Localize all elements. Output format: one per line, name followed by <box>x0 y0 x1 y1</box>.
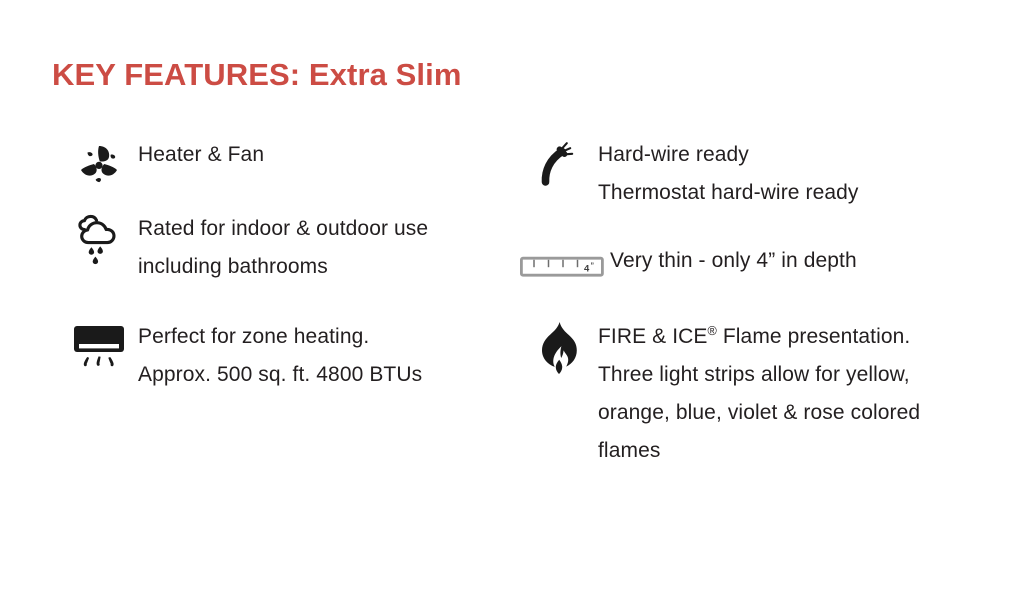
feature-heater-fan-text: Heater & Fan <box>138 136 530 174</box>
feature-line: Three light strips allow for yellow, <box>598 356 1020 394</box>
ruler-icon: 4 ” <box>520 244 610 280</box>
feature-line-pre: FIRE & ICE <box>598 325 708 348</box>
feature-fire-and-ice-text: FIRE & ICE® Flame presentation. Three li… <box>598 318 1020 470</box>
page-title-light: Extra Slim <box>300 57 461 92</box>
feature-line: Perfect for zone heating. <box>138 318 530 356</box>
feature-very-thin-text: Very thin - only 4” in depth <box>610 244 1020 278</box>
feature-zone-heating-text: Perfect for zone heating. Approx. 500 sq… <box>138 318 530 394</box>
cloud-rain-icon <box>60 210 138 268</box>
feature-indoor-outdoor-text: Rated for indoor & outdoor use including… <box>138 210 530 286</box>
feature-line: Heater & Fan <box>138 136 530 174</box>
feature-heater-fan: Heater & Fan <box>60 136 530 186</box>
svg-text:”: ” <box>591 262 595 269</box>
feature-line: flames <box>598 432 1020 470</box>
feature-line: orange, blue, violet & rose colored <box>598 394 1020 432</box>
key-features-panel: KEY FEATURES: Extra Slim <box>0 0 1033 612</box>
feature-line: FIRE & ICE® Flame presentation. <box>598 318 1020 356</box>
page-title: KEY FEATURES: Extra Slim <box>52 55 462 95</box>
feature-line-post: Flame presentation. <box>717 325 910 348</box>
feature-very-thin: 4 ” Very thin - only 4” in depth <box>520 244 1020 280</box>
feature-fire-and-ice: FIRE & ICE® Flame presentation. Three li… <box>520 318 1020 470</box>
page-title-strong: KEY FEATURES: <box>52 57 300 92</box>
fan-icon <box>60 136 138 186</box>
electrical-wire-icon <box>520 136 598 192</box>
feature-hard-wire-ready: Hard-wire ready Thermostat hard-wire rea… <box>520 136 1020 212</box>
feature-indoor-outdoor: Rated for indoor & outdoor use including… <box>60 210 530 286</box>
flame-icon <box>520 318 598 376</box>
feature-line: Thermostat hard-wire ready <box>598 174 1020 212</box>
feature-line: Rated for indoor & outdoor use <box>138 210 530 248</box>
feature-zone-heating: Perfect for zone heating. Approx. 500 sq… <box>60 318 530 394</box>
feature-line: Approx. 500 sq. ft. 4800 BTUs <box>138 356 530 394</box>
feature-line: including bathrooms <box>138 248 530 286</box>
registered-mark: ® <box>708 324 717 338</box>
ruler-label: 4 <box>584 264 590 275</box>
mini-split-heater-icon <box>60 318 138 372</box>
feature-line: Hard-wire ready <box>598 136 1020 174</box>
feature-hard-wire-ready-text: Hard-wire ready Thermostat hard-wire rea… <box>598 136 1020 212</box>
feature-line: Very thin - only 4” in depth <box>610 244 1020 278</box>
